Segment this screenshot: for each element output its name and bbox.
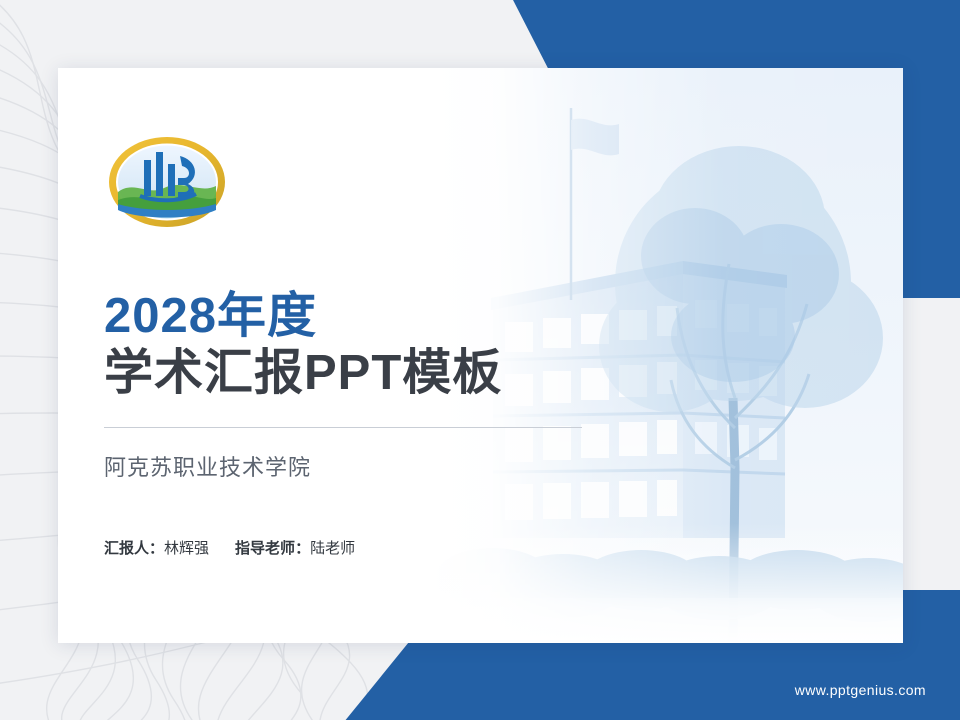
presenter-label: 汇报人 [104,540,149,557]
advisor-separator: ： [295,540,310,557]
school-emblem-icon [104,130,230,234]
year-title: 2028年度 [104,290,624,343]
presentation-slide: 2028年度 学术汇报PPT模板 阿克苏职业技术学院 汇报人：林辉强指导老师：陆… [0,0,960,720]
byline: 汇报人：林辉强指导老师：陆老师 [104,537,624,558]
advisor-name: 陆老师 [310,540,355,557]
presenter-separator: ： [149,540,164,557]
title-block: 2028年度 学术汇报PPT模板 阿克苏职业技术学院 汇报人：林辉强指导老师：陆… [104,290,624,558]
school-logo [104,130,230,234]
content-card: 2028年度 学术汇报PPT模板 阿克苏职业技术学院 汇报人：林辉强指导老师：陆… [58,68,903,643]
presenter-name: 林辉强 [164,540,209,557]
advisor-label: 指导老师 [235,540,295,557]
template-title: 学术汇报PPT模板 [104,347,624,401]
school-name: 阿克苏职业技术学院 [104,450,624,482]
footer-website-url[interactable]: www.pptgenius.com [795,682,926,698]
title-divider [104,427,582,428]
